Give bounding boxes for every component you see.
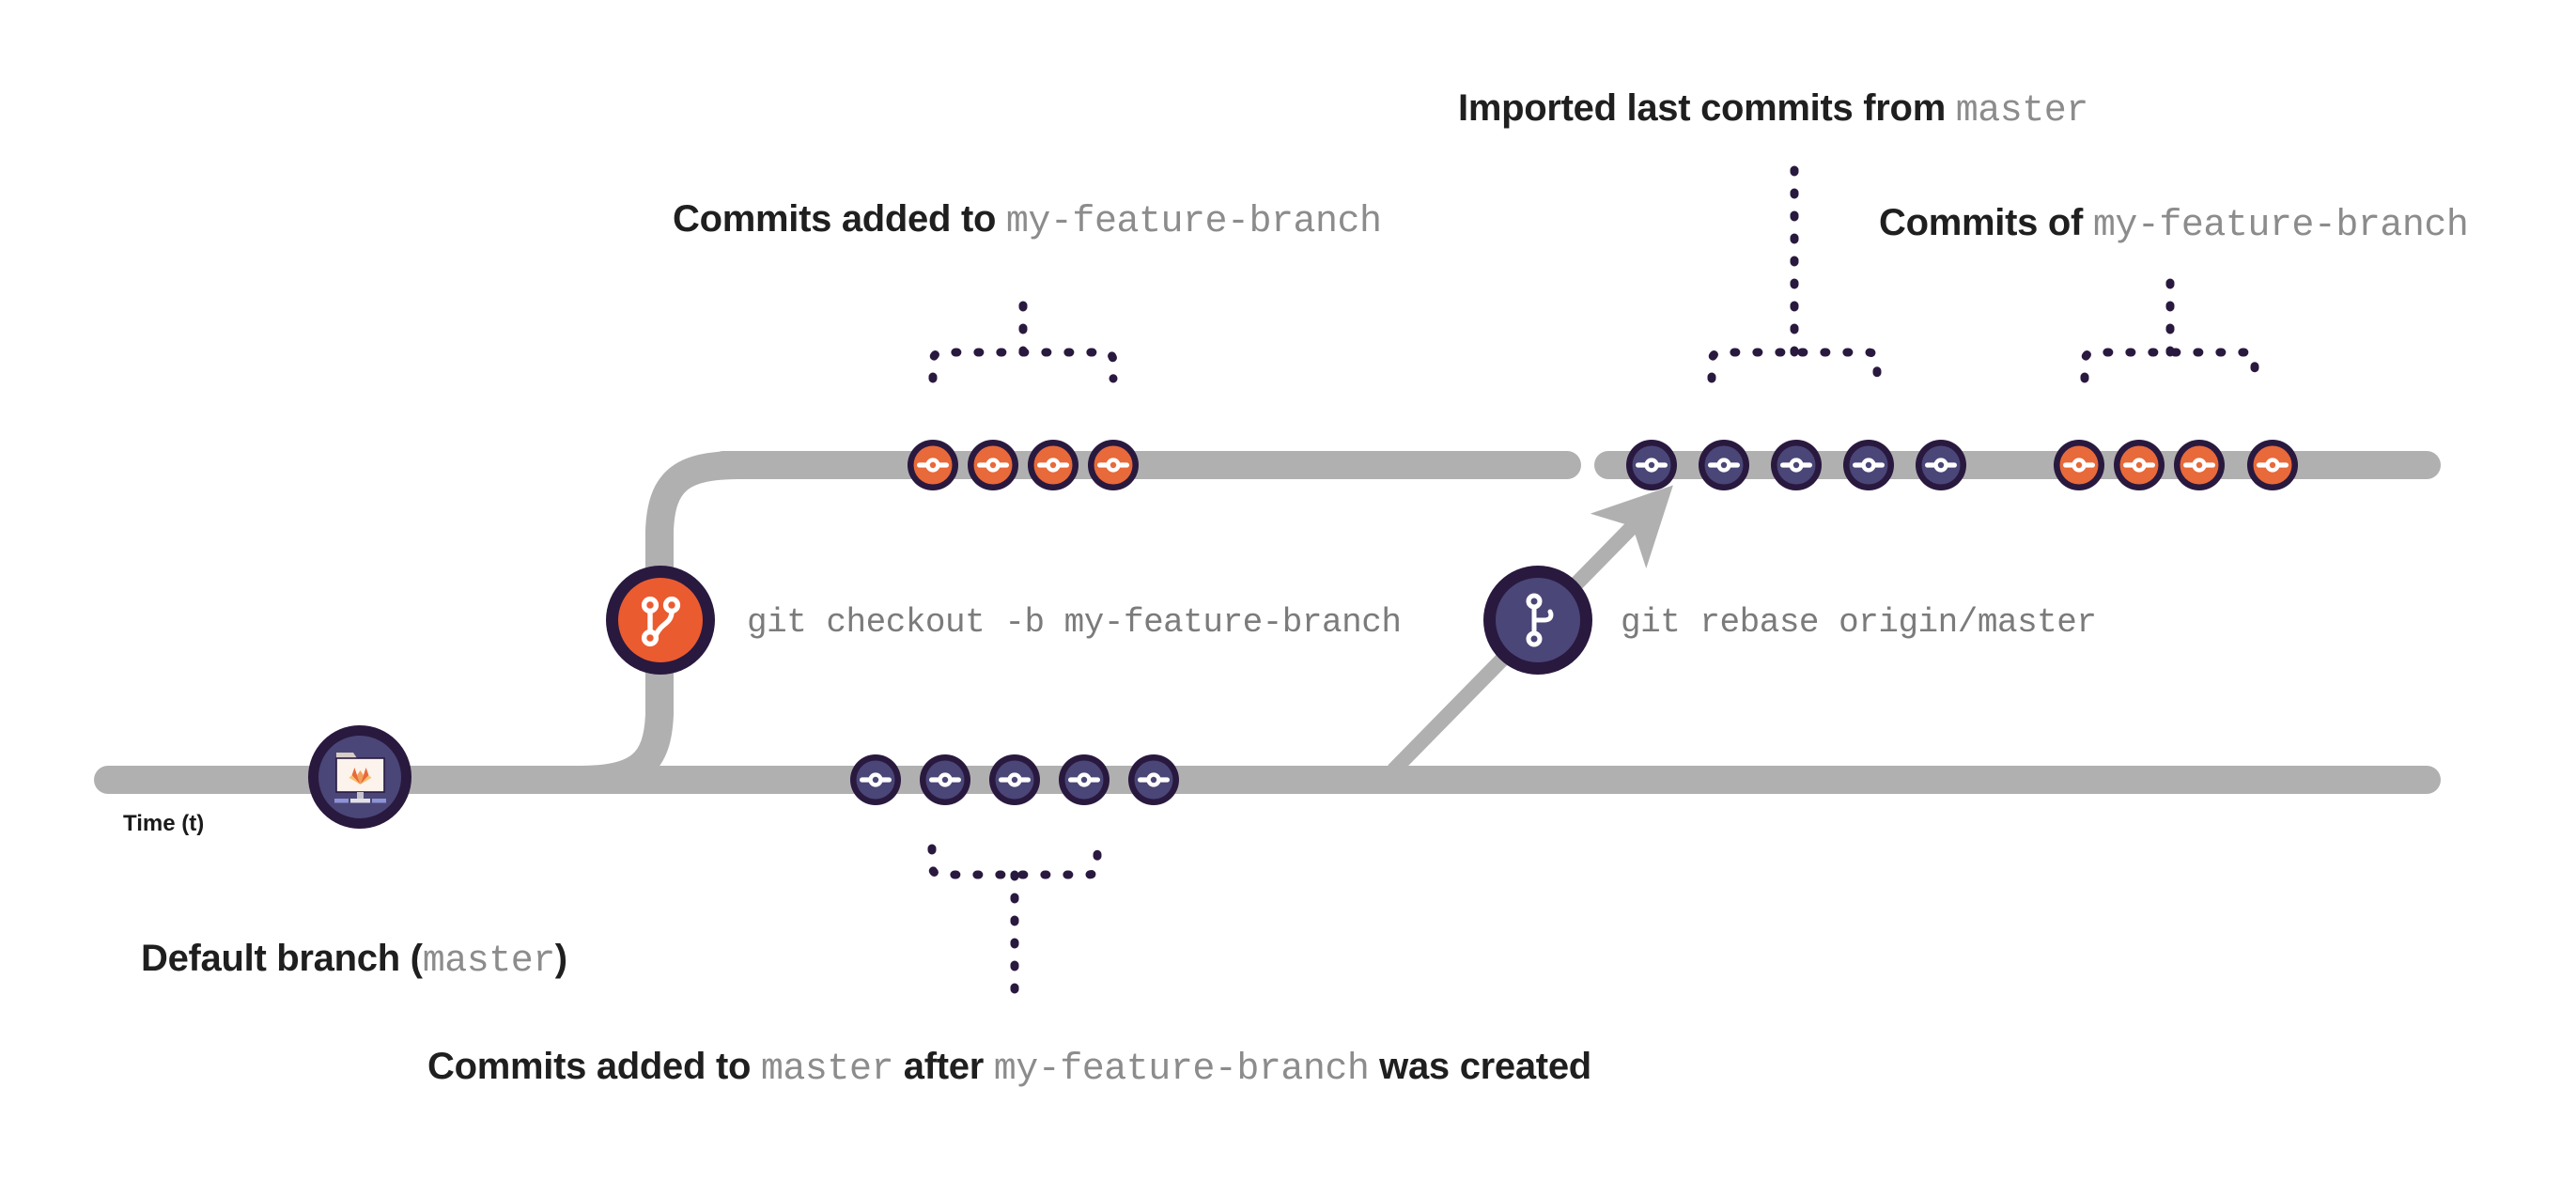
time-axis-label: Time (t) <box>123 813 204 835</box>
commit-node[interactable] <box>2174 440 2225 490</box>
git-workflow-diagram: Commits added to my-feature-branch Impor… <box>0 0 2576 1181</box>
annotation-imported-last-commits: Imported last commits from master <box>1458 89 2088 131</box>
commit-node[interactable] <box>908 440 958 490</box>
annotation-bold-mid: after <box>893 1046 994 1087</box>
annotation-mono-text: master <box>423 940 555 983</box>
commit-node[interactable] <box>1843 440 1894 490</box>
commit-node[interactable] <box>1626 440 1677 490</box>
commit-node[interactable] <box>1028 440 1079 490</box>
gitlab-project-origin-badge[interactable] <box>308 725 411 829</box>
annotation-bold-text: Commits added to <box>427 1046 761 1087</box>
annotation-mono-text: master <box>1956 90 2088 132</box>
bracket-commits-added-master <box>932 848 1097 1003</box>
annotation-bold-suffix: ) <box>555 938 567 979</box>
commit-node[interactable] <box>989 754 1040 805</box>
annotation-bold-text: Commits of <box>1879 202 2093 243</box>
commit-node[interactable] <box>1128 754 1179 805</box>
annotation-commits-added-master: Commits added to master after my-feature… <box>427 1048 1591 1089</box>
annotation-commits-of-feature: Commits of my-feature-branch <box>1879 204 2468 245</box>
commit-node[interactable] <box>1771 440 1822 490</box>
annotation-bold-text: Commits added to <box>673 198 1006 240</box>
commit-node[interactable] <box>2247 440 2298 490</box>
commit-node[interactable] <box>1916 440 1966 490</box>
commit-node[interactable] <box>850 754 901 805</box>
commit-node[interactable] <box>2054 440 2104 490</box>
group-brackets <box>932 162 2255 1003</box>
commit-node[interactable] <box>1088 440 1139 490</box>
annotation-mono-text-2: my-feature-branch <box>994 1049 1370 1091</box>
annotation-default-branch: Default branch (master) <box>141 940 567 981</box>
commit-node[interactable] <box>2114 440 2165 490</box>
annotation-mono-text: master <box>761 1049 893 1091</box>
commit-group-master-added <box>850 754 1179 805</box>
git-rebase-badge[interactable] <box>1483 566 1592 675</box>
git-checkout-badge[interactable] <box>606 566 715 675</box>
annotation-mono-text: my-feature-branch <box>1006 201 1382 243</box>
command-label-rebase: git rebase origin/master <box>1621 606 2096 640</box>
commit-node[interactable] <box>920 754 970 805</box>
bracket-imported-commits <box>1712 162 1877 379</box>
annotation-mono-text: my-feature-branch <box>2093 205 2469 247</box>
commit-node[interactable] <box>968 440 1018 490</box>
command-label-checkout: git checkout -b my-feature-branch <box>747 606 1401 640</box>
bracket-commits-of-feature <box>2085 271 2255 379</box>
annotation-bold-text: Default branch ( <box>141 938 423 979</box>
annotation-bold-text: Imported last commits from <box>1458 87 1956 129</box>
bracket-commits-added-feature <box>933 287 1113 379</box>
diagram-canvas <box>0 0 2576 1181</box>
annotation-bold-suffix: was created <box>1369 1046 1591 1087</box>
commit-node[interactable] <box>1059 754 1110 805</box>
commit-node[interactable] <box>1699 440 1749 490</box>
commit-group-feature-rebased <box>2054 440 2298 490</box>
annotation-commits-added-feature: Commits added to my-feature-branch <box>673 200 1382 241</box>
